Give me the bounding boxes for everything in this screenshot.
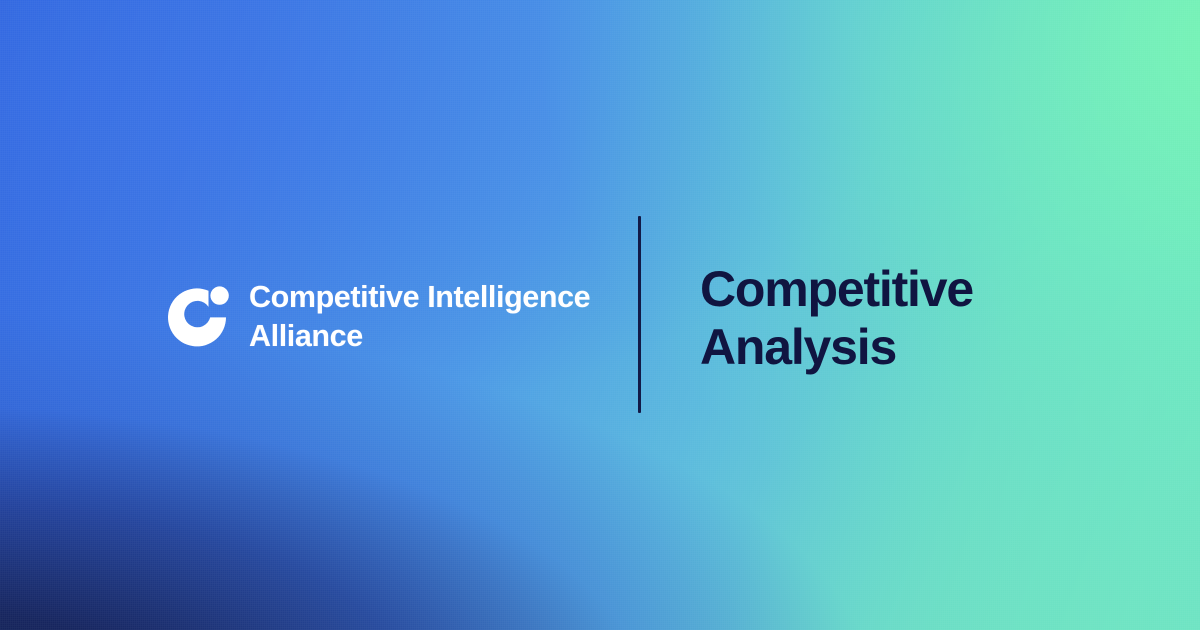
brand-name: Competitive Intelligence Alliance: [249, 276, 590, 355]
page-title: Competitive Analysis: [700, 260, 973, 376]
social-share-banner: Competitive Intelligence Alliance Compet…: [0, 0, 1200, 630]
ci-alliance-ring-dot-logo-icon: [162, 281, 232, 353]
vertical-divider: [638, 216, 641, 413]
banner-content: Competitive Intelligence Alliance Compet…: [0, 0, 1200, 630]
brand-lockup: Competitive Intelligence Alliance: [162, 276, 590, 355]
